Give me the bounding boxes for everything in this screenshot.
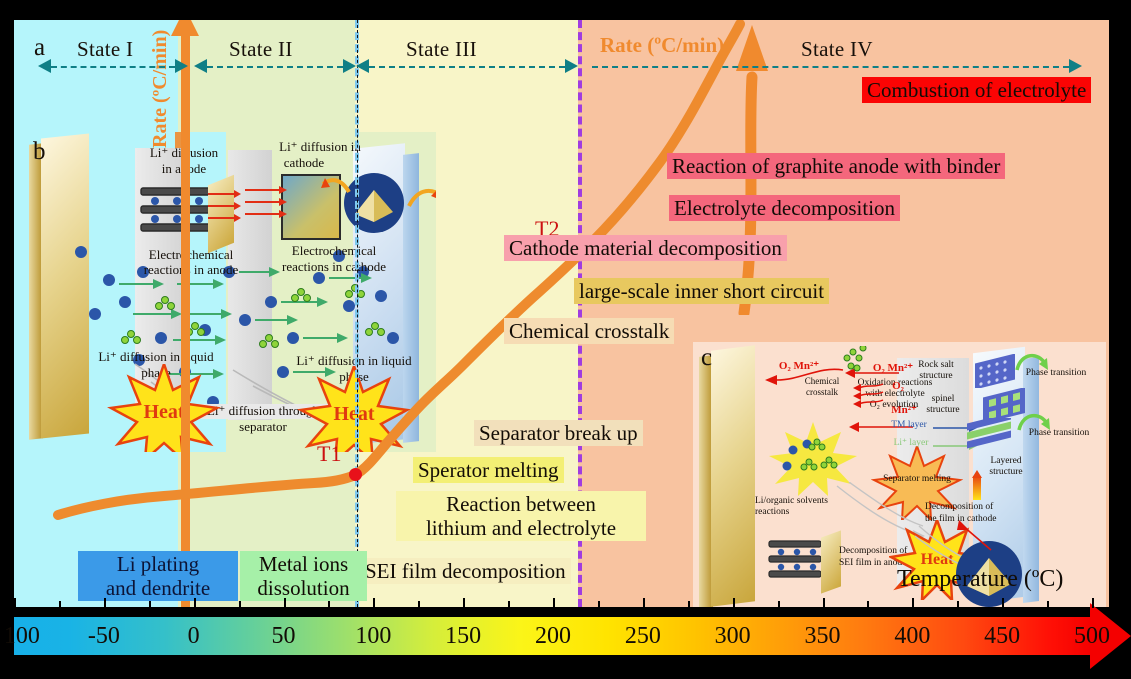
colorbar-minor-tick xyxy=(867,601,869,608)
plot-area: b Li⁺ diffusion in anode Electrochemical… xyxy=(14,20,1109,607)
event-metal-ions-dissolution: Metal ions dissolution xyxy=(240,551,367,601)
colorbar-minor-tick xyxy=(59,601,61,608)
colorbar-tick-label: 300 xyxy=(715,623,751,650)
colorbar-minor-tick xyxy=(418,601,420,608)
colorbar-tick xyxy=(553,598,555,608)
colorbar-tick-label: 50 xyxy=(272,623,296,650)
colorbar-tick-label: 100 xyxy=(355,623,391,650)
colorbar-tick-label: 450 xyxy=(984,623,1020,650)
colorbar-tick xyxy=(643,598,645,608)
panel-a-letter: a xyxy=(34,34,45,62)
colorbar-tick-label: 0 xyxy=(188,623,200,650)
colorbar-minor-tick xyxy=(508,601,510,608)
colorbar-minor-tick xyxy=(598,601,600,608)
colorbar-tick xyxy=(194,598,196,608)
event-reaction-graphite-anode-binder: Reaction of graphite anode with binder xyxy=(667,153,1005,179)
colorbar-tick xyxy=(1092,598,1094,608)
colorbar-tick-label: 500 xyxy=(1074,623,1110,650)
event-electrolyte-decomposition: Electrolyte decomposition xyxy=(669,195,900,221)
colorbar-minor-tick xyxy=(149,601,151,608)
colorbar-tick-label: -50 xyxy=(88,623,120,650)
marker-t1-label: T1 xyxy=(317,441,341,467)
colorbar-tick xyxy=(373,598,375,608)
event-separator-break-up: Separator break up xyxy=(474,420,643,446)
event-li-plating-and-dendrite: Li plating and dendrite xyxy=(78,551,238,601)
colorbar-tick xyxy=(1002,598,1004,608)
colorbar-minor-tick xyxy=(328,601,330,608)
colorbar-tick xyxy=(104,598,106,608)
colorbar-tick-label: 100 xyxy=(4,623,40,650)
temperature-axis-label: Temperature (ºC) xyxy=(897,566,1063,593)
event-metal-ions-line2: dissolution xyxy=(257,576,349,600)
event-metal-ions-line1: Metal ions xyxy=(259,552,348,576)
colorbar-minor-tick xyxy=(778,601,780,608)
colorbar-tick xyxy=(463,598,465,608)
colorbar-minor-tick xyxy=(1047,601,1049,608)
colorbar-tick xyxy=(912,598,914,608)
colorbar-tick-label: 400 xyxy=(894,623,930,650)
colorbar-tick-label: 200 xyxy=(535,623,571,650)
colorbar-tick-label: 150 xyxy=(445,623,481,650)
figure-root: b Li⁺ diffusion in anode Electrochemical… xyxy=(0,0,1131,679)
temperature-colorbar: 100-50050100150200250300350400450500 xyxy=(14,607,1131,655)
event-cathode-material-decomposition: Cathode material decomposition xyxy=(504,235,787,261)
event-reaction-lithium-electrolyte: Reaction between lithium and electrolyte xyxy=(396,491,646,541)
colorbar-tick xyxy=(733,598,735,608)
event-sei-film-decomposition: SEI film decomposition xyxy=(360,558,571,584)
event-li-plating-line1: Li plating xyxy=(117,552,199,576)
colorbar-minor-tick xyxy=(957,601,959,608)
colorbar-tick-label: 250 xyxy=(625,623,661,650)
colorbar-tick xyxy=(823,598,825,608)
colorbar-tick-label: 350 xyxy=(805,623,841,650)
marker-t1-dot xyxy=(349,468,362,481)
event-large-scale-inner-short-circuit: large-scale inner short circuit xyxy=(574,278,829,304)
colorbar-minor-tick xyxy=(688,601,690,608)
colorbar-tick xyxy=(14,598,16,608)
event-separator-melting: Sperator melting xyxy=(413,457,564,483)
event-reaction-lithium-electrolyte-line1: Reaction between xyxy=(446,492,596,516)
event-combustion-of-electrolyte: Combustion of electrolyte xyxy=(862,77,1091,103)
event-reaction-lithium-electrolyte-line2: lithium and electrolyte xyxy=(426,516,616,540)
event-chemical-crosstalk: Chemical crosstalk xyxy=(504,318,674,344)
event-li-plating-line2: and dendrite xyxy=(106,576,210,600)
colorbar-tick xyxy=(284,598,286,608)
colorbar-minor-tick xyxy=(239,601,241,608)
